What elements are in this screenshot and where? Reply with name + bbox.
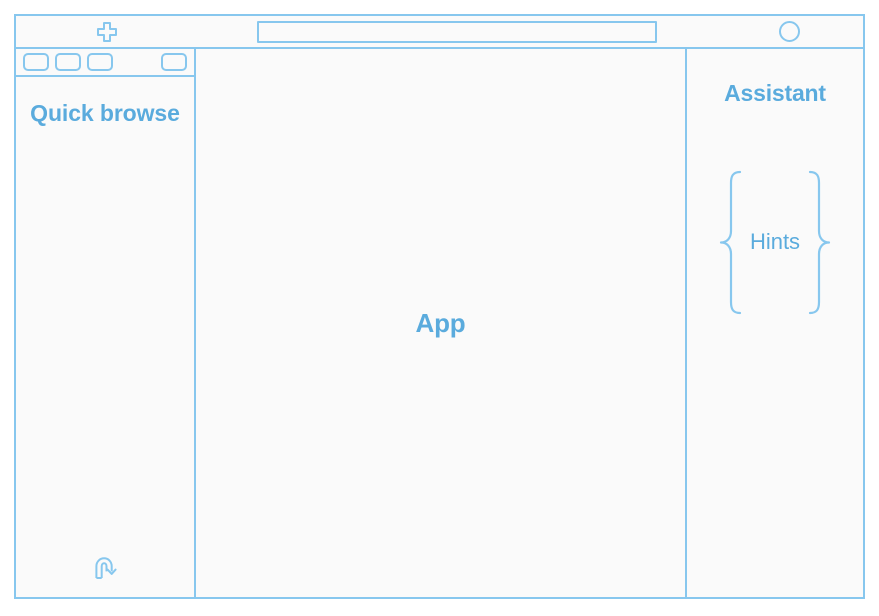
hints-group: Hints bbox=[687, 167, 863, 317]
sidebar-footer bbox=[16, 539, 194, 597]
circle-avatar-icon[interactable] bbox=[779, 21, 800, 42]
assistant-panel: Assistant Hints bbox=[687, 49, 865, 599]
new-tab-button[interactable] bbox=[96, 21, 118, 43]
app-panel-title: App bbox=[416, 308, 466, 339]
plus-icon bbox=[96, 21, 118, 43]
u-turn-arrow-button[interactable] bbox=[91, 554, 119, 582]
wireframe-frame: Quick browse App Assi bbox=[14, 14, 865, 599]
sidebar-title: Quick browse bbox=[26, 99, 184, 128]
sidebar-toolbar bbox=[16, 49, 194, 77]
left-curly-brace-icon bbox=[718, 170, 744, 315]
sidebar-tool-3-button[interactable] bbox=[87, 53, 113, 71]
top-bar-right-section bbox=[715, 16, 863, 47]
assistant-title: Assistant bbox=[724, 80, 826, 107]
u-turn-arrow-icon bbox=[91, 554, 119, 582]
sidebar-tool-1-button[interactable] bbox=[23, 53, 49, 71]
browser-top-bar bbox=[14, 14, 865, 49]
sidebar-tool-2-button[interactable] bbox=[55, 53, 81, 71]
sidebar-tool-4-button[interactable] bbox=[161, 53, 187, 71]
right-curly-brace-icon bbox=[806, 170, 832, 315]
top-bar-center-section bbox=[198, 16, 715, 47]
address-search-input[interactable] bbox=[257, 21, 657, 43]
window-body: Quick browse App Assi bbox=[14, 49, 865, 599]
quick-browse-sidebar: Quick browse bbox=[14, 49, 196, 599]
top-bar-left-section bbox=[16, 16, 198, 47]
sidebar-content: Quick browse bbox=[16, 77, 194, 597]
hints-label: Hints bbox=[744, 229, 806, 255]
app-main-panel[interactable]: App bbox=[196, 49, 687, 599]
